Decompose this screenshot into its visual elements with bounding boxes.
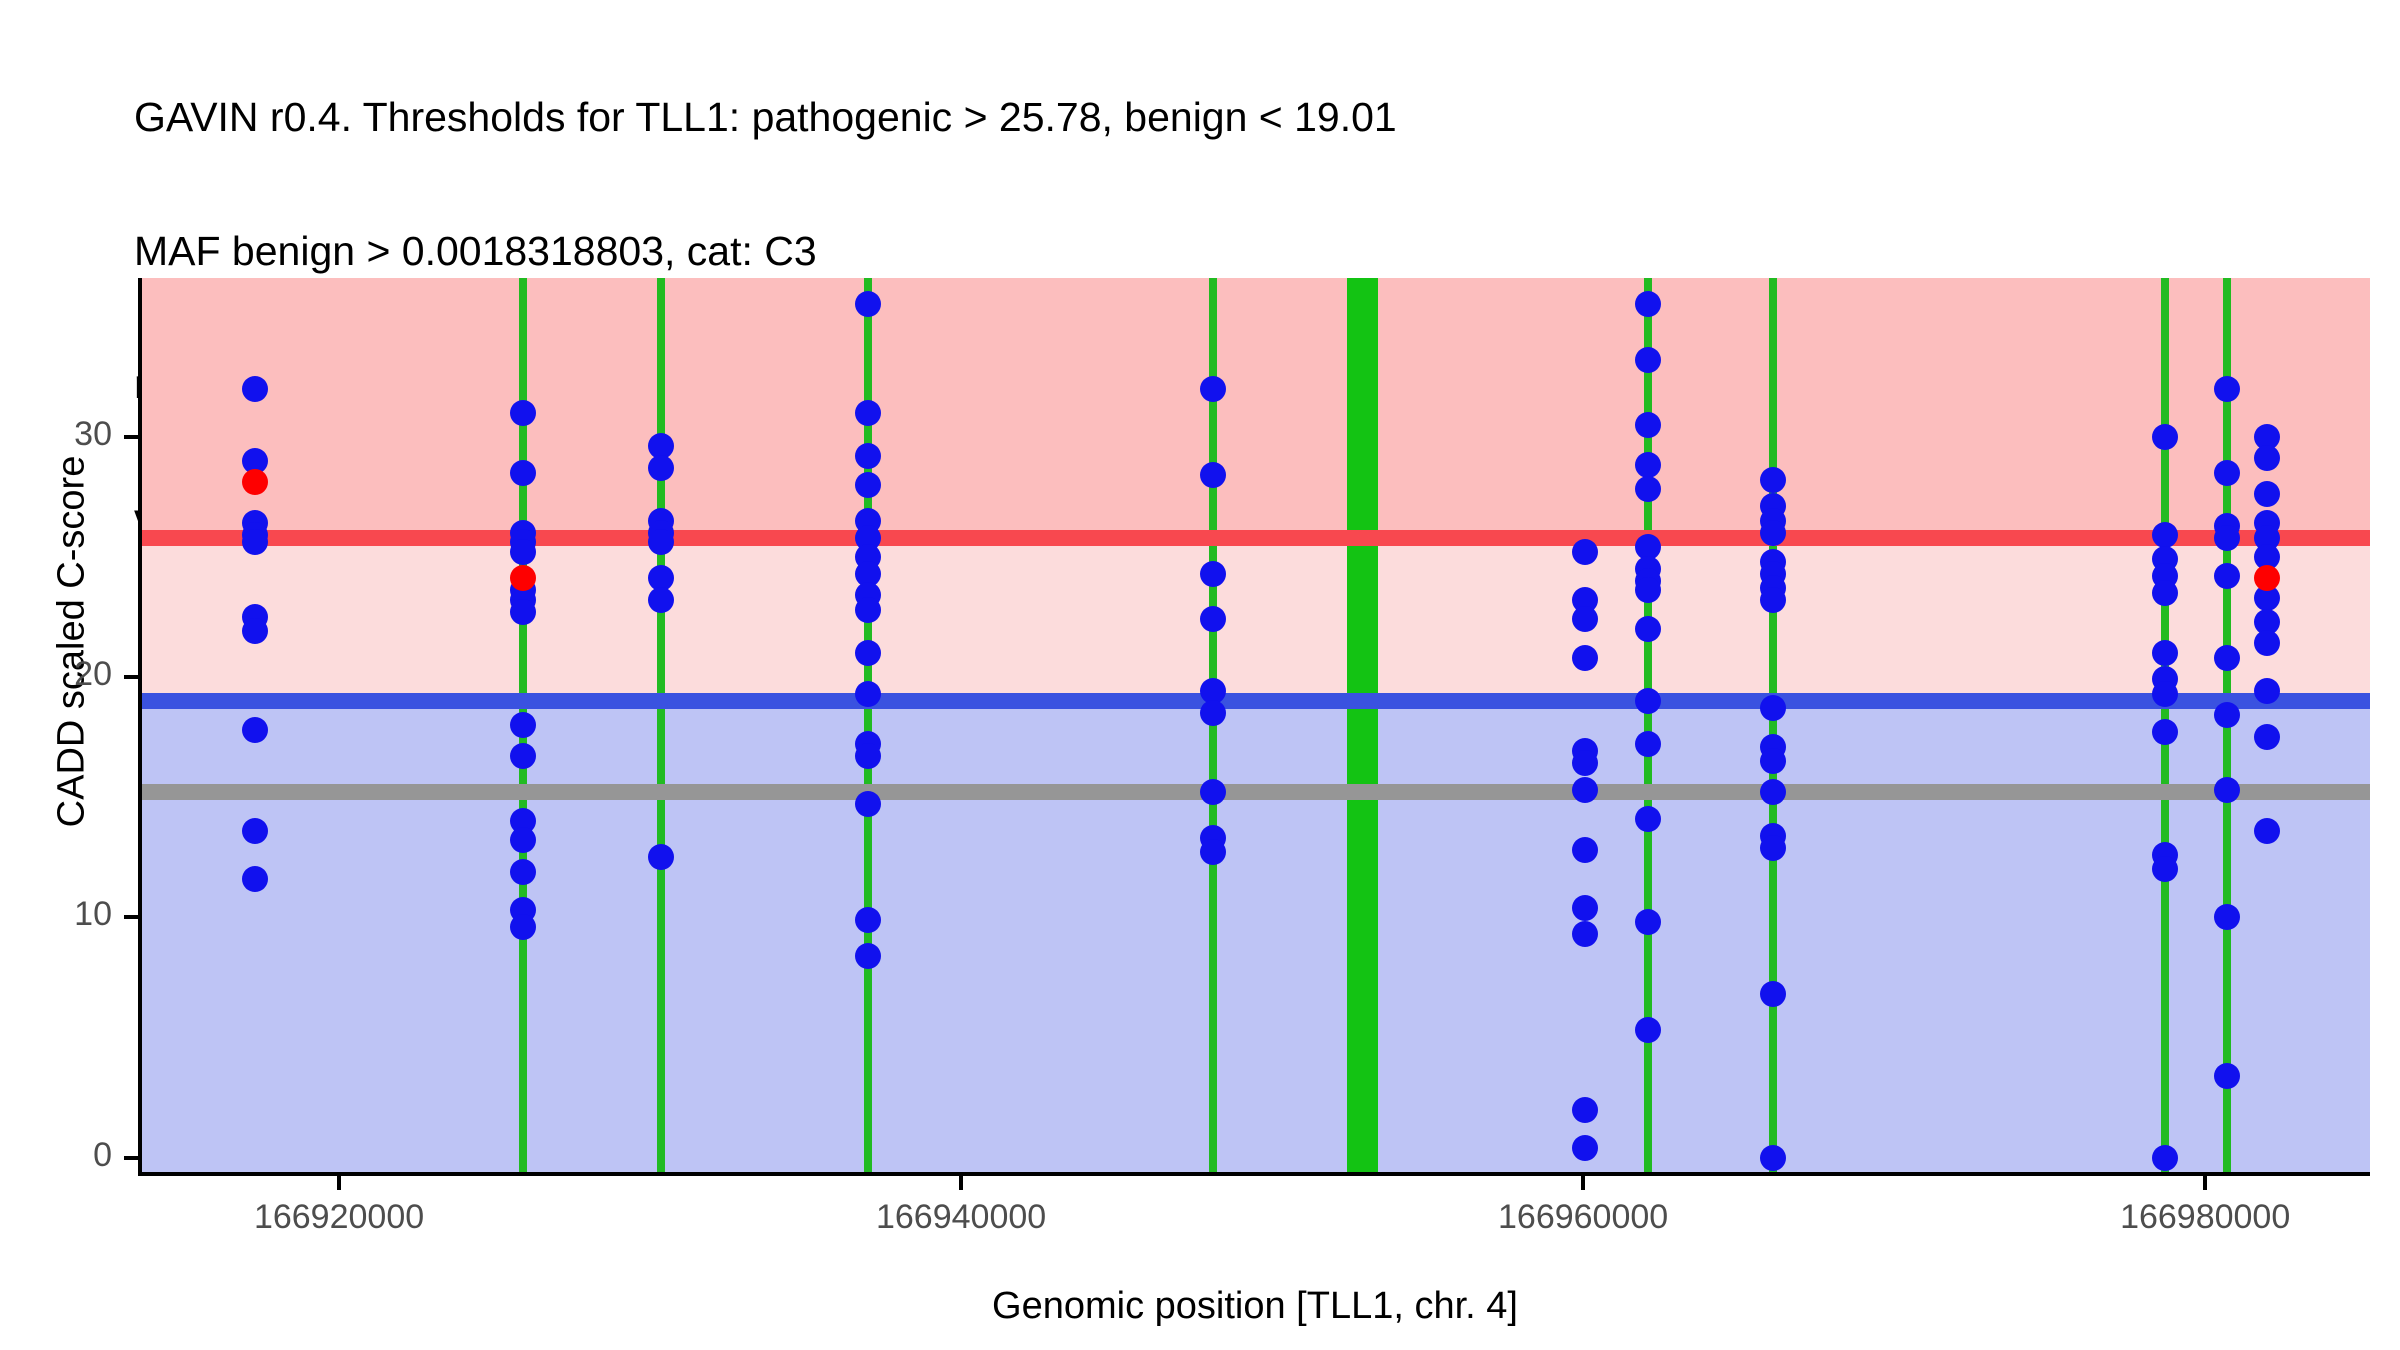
gnomad-point [1572, 750, 1598, 776]
gnomad-point [2152, 522, 2178, 548]
gnomad-point [1760, 779, 1786, 805]
gnomad-point [855, 681, 881, 707]
threshold-line [140, 784, 2370, 800]
gnomad-point [855, 943, 881, 969]
gnomad-point [648, 844, 674, 870]
gnomad-point [242, 866, 268, 892]
gnomad-point [1572, 777, 1598, 803]
gnomad-point [1572, 1135, 1598, 1161]
x-tick [2203, 1176, 2207, 1190]
gnomad-point [855, 597, 881, 623]
gnomad-point [855, 791, 881, 817]
gnomad-point [1200, 561, 1226, 587]
gnomad-point [510, 460, 536, 486]
y-axis-line [138, 278, 142, 1172]
x-axis-line [138, 1172, 2370, 1176]
gnomad-point [2152, 1145, 2178, 1171]
gnomad-point [2152, 580, 2178, 606]
zone-band [140, 278, 2370, 538]
gnomad-point [1760, 695, 1786, 721]
gnomad-point [855, 907, 881, 933]
gnomad-point [510, 827, 536, 853]
gnomad-point [2214, 525, 2240, 551]
gnomad-point [510, 743, 536, 769]
y-tick-label: 20 [0, 655, 112, 694]
zone-band [140, 701, 2370, 1172]
gnomad-point [510, 914, 536, 940]
gnomad-point [855, 443, 881, 469]
clinvar-point [510, 565, 536, 591]
y-tick [124, 915, 138, 919]
gnomad-point [510, 539, 536, 565]
gnomad-point [2214, 645, 2240, 671]
gnomad-point [1572, 895, 1598, 921]
y-tick-label: 30 [0, 415, 112, 454]
gnomad-point [855, 472, 881, 498]
gnomad-point [2214, 376, 2240, 402]
exon-line [657, 278, 665, 1172]
gnomad-point [242, 376, 268, 402]
y-tick-label: 0 [0, 1136, 112, 1175]
gnomad-point [510, 859, 536, 885]
gnomad-point [855, 743, 881, 769]
gnomad-point [1572, 837, 1598, 863]
gnomad-point [1200, 462, 1226, 488]
gnomad-point [2214, 460, 2240, 486]
gnomad-point [1760, 835, 1786, 861]
gnomad-point [1572, 921, 1598, 947]
gnomad-point [2152, 856, 2178, 882]
gnomad-point [1572, 1097, 1598, 1123]
gnomad-point [1200, 376, 1226, 402]
gnomad-point [1572, 606, 1598, 632]
x-tick-label: 166960000 [1413, 1198, 1753, 1237]
x-tick-label: 166940000 [791, 1198, 1131, 1237]
x-axis-label: Genomic position [TLL1, chr. 4] [140, 1285, 2370, 1328]
gnomad-point [855, 400, 881, 426]
gnomad-point [510, 400, 536, 426]
gnomad-point [1572, 645, 1598, 671]
gnomad-point [242, 717, 268, 743]
title-line-2: MAF benign > 0.0018318803, cat: C3 [134, 229, 2334, 274]
plot-root: GAVIN r0.4. Thresholds for TLL1: pathoge… [0, 0, 2400, 1350]
y-tick-label: 10 [0, 895, 112, 934]
gnomad-point [1760, 981, 1786, 1007]
gnomad-point [1635, 347, 1661, 373]
gnomad-point [1635, 806, 1661, 832]
gnomad-point [2152, 681, 2178, 707]
gnomad-point [2152, 719, 2178, 745]
gnomad-point [1760, 1145, 1786, 1171]
gnomad-point [1760, 748, 1786, 774]
gnomad-point [648, 455, 674, 481]
gnomad-point [1760, 587, 1786, 613]
gnomad-point [2152, 424, 2178, 450]
gnomad-point [1200, 700, 1226, 726]
gnomad-point [2152, 640, 2178, 666]
x-tick-label: 166980000 [2035, 1198, 2375, 1237]
gnomad-point [2214, 1063, 2240, 1089]
plot-panel [140, 278, 2370, 1172]
threshold-line [140, 693, 2370, 709]
gnomad-point [1572, 539, 1598, 565]
threshold-line [140, 530, 2370, 546]
y-tick [124, 675, 138, 679]
y-tick [124, 435, 138, 439]
x-tick [959, 1176, 963, 1190]
gnomad-point [1760, 520, 1786, 546]
exon-line [1347, 278, 1378, 1172]
gnomad-point [1760, 467, 1786, 493]
x-tick [1581, 1176, 1585, 1190]
gnomad-point [510, 599, 536, 625]
gnomad-point [648, 587, 674, 613]
x-tick-label: 166920000 [169, 1198, 509, 1237]
title-line-1: GAVIN r0.4. Thresholds for TLL1: pathoge… [134, 95, 2334, 140]
zone-band [140, 538, 2370, 701]
gnomad-point [1635, 412, 1661, 438]
y-tick [124, 1156, 138, 1160]
gnomad-point [855, 640, 881, 666]
gnomad-point [2214, 563, 2240, 589]
gnomad-point [242, 818, 268, 844]
gnomad-point [2254, 818, 2280, 844]
exon-line [1769, 278, 1777, 1172]
x-tick [337, 1176, 341, 1190]
gnomad-point [510, 712, 536, 738]
gnomad-point [2214, 904, 2240, 930]
gnomad-point [2214, 777, 2240, 803]
